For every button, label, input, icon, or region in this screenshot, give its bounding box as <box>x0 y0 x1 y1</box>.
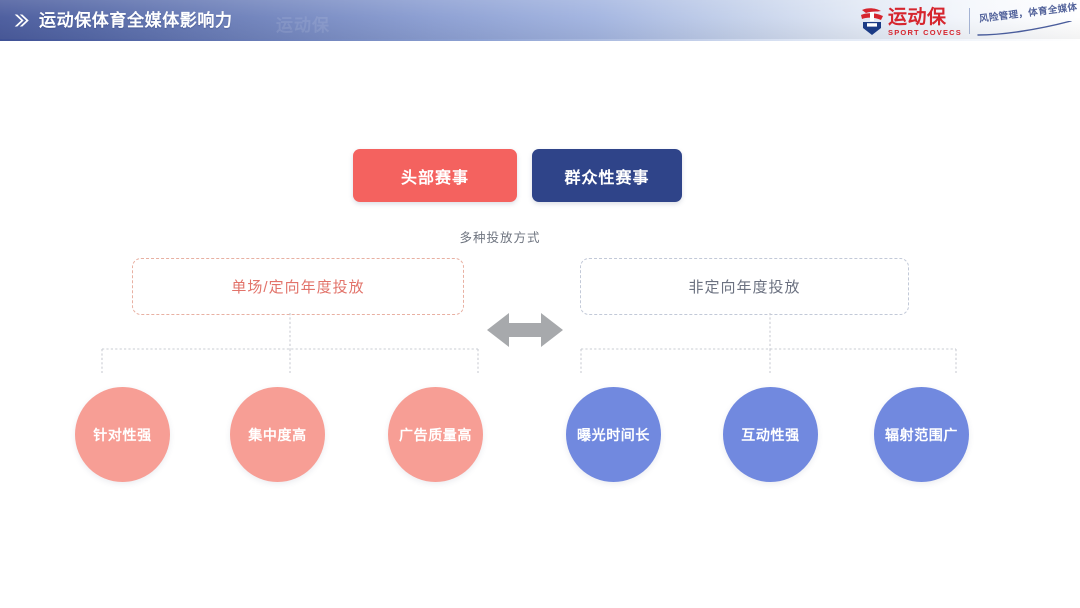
chevron-double-right-icon <box>13 12 30 29</box>
logo-tagline-group: 风险管理，体育全媒体 <box>977 5 1072 37</box>
header-title-group: 运动保体育全媒体影响力 <box>13 0 233 41</box>
header-watermark: 运动保 <box>276 11 330 36</box>
placement-box-targeted[interactable]: 单场/定向年度投放 <box>132 258 464 315</box>
logo-mark: 运动保 SPORT COVECS <box>859 6 962 36</box>
double-headed-horizontal-arrow-icon <box>487 309 563 351</box>
middle-caption-row: 多种投放方式 <box>0 227 1080 246</box>
sport-covecs-emblem-icon <box>859 6 885 36</box>
swoosh-underline-icon <box>977 21 1072 37</box>
logo-brand-cn: 运动保 <box>888 8 947 27</box>
placement-box-untargeted[interactable]: 非定向年度投放 <box>580 258 909 315</box>
benefit-circle-left-2[interactable]: 集中度高 <box>230 387 325 482</box>
page-header: 运动保 运动保体育全媒体影响力 运动保 SPORT COVECS 风险 <box>0 0 1080 41</box>
connector-bracket-left <box>95 313 485 389</box>
category-box-mass-events[interactable]: 群众性赛事 <box>532 149 682 202</box>
benefit-circle-right-3[interactable]: 辐射范围广 <box>874 387 969 482</box>
logo-wordmark: 运动保 SPORT COVECS <box>888 8 962 37</box>
diagram-canvas: 头部赛事 群众性赛事 多种投放方式 单场/定向年度投放 非定向年度投放 针对性强… <box>0 41 1080 608</box>
page-title: 运动保体育全媒体影响力 <box>39 12 233 29</box>
brand-logo: 运动保 SPORT COVECS 风险管理，体育全媒体 <box>859 4 1072 38</box>
logo-brand-en: SPORT COVECS <box>888 29 962 37</box>
benefit-circle-right-2[interactable]: 互动性强 <box>723 387 818 482</box>
benefit-circle-left-3[interactable]: 广告质量高 <box>388 387 483 482</box>
category-box-head-events[interactable]: 头部赛事 <box>353 149 517 202</box>
logo-divider <box>969 8 970 34</box>
connector-bracket-right <box>575 313 965 389</box>
benefit-circle-left-1[interactable]: 针对性强 <box>75 387 170 482</box>
middle-caption: 多种投放方式 <box>459 231 540 245</box>
benefit-circle-right-1[interactable]: 曝光时间长 <box>566 387 661 482</box>
